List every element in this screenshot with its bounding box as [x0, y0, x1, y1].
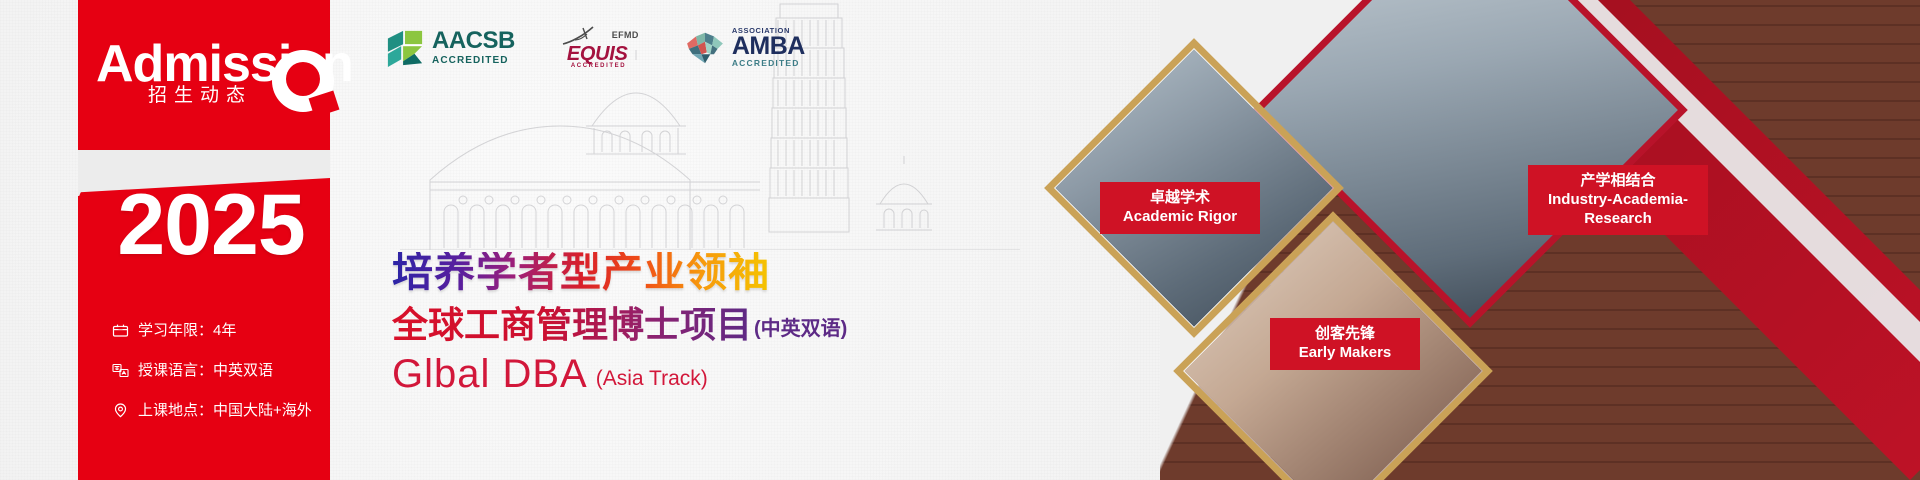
- label-academic-rigor: 卓越学术 Academic Rigor: [1100, 182, 1260, 234]
- accreditation-logos: AACSB ACCREDITED EFMD EQUIS ACCREDITED: [386, 22, 805, 74]
- calendar-icon: [112, 322, 129, 339]
- label-industry-academia: 产学相结合 Industry-Academia- Research: [1528, 165, 1708, 235]
- amba-logo: ASSOCIATION AMBA ACCREDITED: [685, 27, 805, 69]
- amba-accredited: ACCREDITED: [732, 58, 805, 69]
- label-cn: 产学相结合: [1542, 172, 1694, 191]
- language-icon: [112, 362, 129, 379]
- dba-label: Glbal DBA: [392, 354, 588, 394]
- label-early-makers: 创客先锋 Early Makers: [1270, 318, 1420, 370]
- label-en: Early Makers: [1284, 344, 1406, 363]
- admission-logo: Admission 招生动态: [96, 28, 336, 108]
- aacsb-line1: AACSB: [432, 29, 515, 53]
- label-en: Academic Rigor: [1114, 208, 1246, 227]
- person-in-circle-icon: [272, 50, 334, 112]
- year-label: 2025: [96, 182, 326, 268]
- program-title-en: Glbal DBA (Asia Track): [392, 354, 708, 394]
- info-row-language: 授课语言：中英双语: [112, 362, 342, 379]
- label-cn: 创客先锋: [1284, 325, 1406, 344]
- amba-diamond-icon: [685, 31, 725, 65]
- dba-track: (Asia Track): [596, 367, 708, 394]
- page-headline: 培养学者型产业领袖: [392, 252, 770, 293]
- badge-cut: [309, 90, 340, 117]
- info-text-language: 授课语言：中英双语: [138, 363, 273, 378]
- info-row-location: 上课地点：中国大陆+海外: [112, 402, 342, 419]
- amba-word: AMBA: [732, 35, 805, 58]
- admission-banner: 产学相结合 Industry-Academia- Research 卓越学术 A…: [0, 0, 1920, 480]
- location-pin-icon: [112, 402, 129, 419]
- person-glyph: [294, 76, 312, 94]
- label-en: Industry-Academia-: [1542, 191, 1694, 210]
- photo-collage: 产学相结合 Industry-Academia- Research 卓越学术 A…: [1020, 0, 1920, 480]
- logo-chinese: 招生动态: [148, 80, 252, 107]
- label-cn: 卓越学术: [1114, 189, 1246, 208]
- equis-logo: EFMD EQUIS ACCREDITED: [561, 26, 639, 70]
- program-subtitle: 全球工商管理博士项目 (中英双语): [392, 305, 847, 345]
- program-info-list: 学习年限：4年 授课语言：中英双语 上课地点：中国大陆+海外: [112, 322, 342, 442]
- efmd-label: EFMD: [612, 30, 639, 40]
- equis-accredited: ACCREDITED: [571, 63, 626, 69]
- aacsb-cube-icon: [386, 29, 424, 67]
- info-text-duration: 学习年限：4年: [138, 323, 236, 338]
- aacsb-line2: ACCREDITED: [432, 53, 515, 68]
- info-text-location: 上课地点：中国大陆+海外: [138, 403, 312, 418]
- aacsb-logo: AACSB ACCREDITED: [386, 29, 515, 68]
- program-language-note: (中英双语): [754, 312, 847, 345]
- info-row-duration: 学习年限：4年: [112, 322, 342, 339]
- label-en2: Research: [1542, 210, 1694, 229]
- program-name-cn: 全球工商管理博士项目: [392, 305, 752, 345]
